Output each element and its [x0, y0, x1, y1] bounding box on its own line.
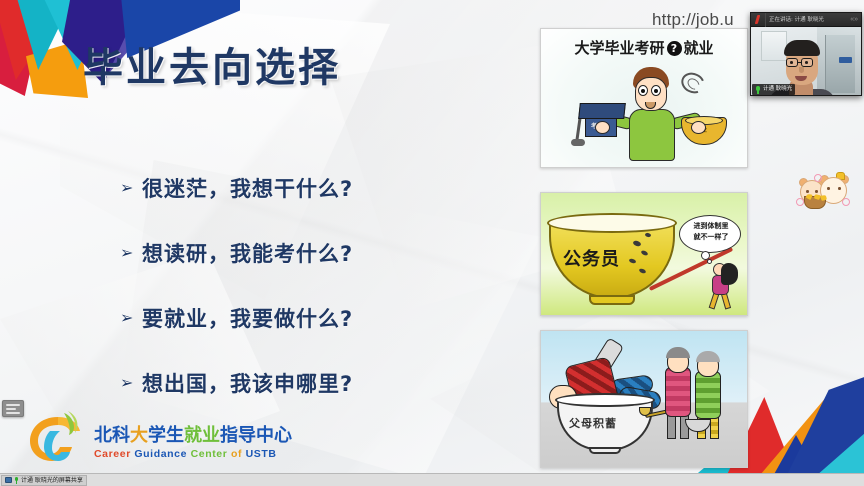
bowl-rim: [547, 213, 677, 233]
video-background-panel: [761, 31, 787, 61]
question-mark-icon: ?: [667, 41, 682, 56]
character-hair: [721, 263, 738, 285]
character-pupil: [654, 89, 658, 93]
webcam-video-feed[interactable]: 计通 耿晓光: [751, 27, 861, 96]
person-eye: [805, 61, 808, 64]
footer-logo: 北科大学生就业指导中心 Career Guidance Center of US…: [24, 407, 292, 465]
illustration-canvas: 父母积蓄: [541, 331, 747, 467]
parent-leg: [710, 417, 719, 439]
bullet-text: 很迷茫，我想干什么?: [142, 173, 353, 203]
heading-part-left: 大学毕业: [574, 39, 634, 57]
bowl-label: 父母积蓄: [569, 415, 617, 431]
bubble-line-1: 进到体制里: [694, 222, 729, 230]
bowl-foot: [589, 295, 635, 305]
bullet-text: 想读研，我能考什么?: [142, 238, 353, 268]
illustration-civil-servant-bowl: 公务员 进到体制里就不一样了: [540, 192, 748, 316]
illustration-parents-savings: 父母积蓄: [540, 330, 748, 468]
heading-part-mid: 考研: [634, 39, 664, 57]
video-background-sign: [839, 57, 852, 63]
sticker-eye: [806, 190, 809, 193]
video-window-controls[interactable]: «»: [850, 15, 859, 24]
toolbar-line: [6, 408, 16, 410]
bowl-rim: [555, 393, 655, 407]
bullet-arrow-icon: ➢: [120, 245, 142, 261]
taskbar: 计通 耿晓光的屏幕共享: [0, 473, 864, 486]
bubble-line-2: 就不一样了: [694, 233, 729, 241]
bullet-item: ➢ 要就业，我要做什么?: [120, 285, 520, 350]
cartoon-animal-sticker: [798, 168, 852, 212]
bullet-list: ➢ 很迷茫，我想干什么? ➢ 想读研，我能考什么? ➢ 要就业，我要做什么? ➢…: [120, 155, 520, 415]
microphone-icon: [14, 477, 19, 484]
logo-en-part: Career: [94, 448, 134, 460]
bullet-arrow-icon: ➢: [120, 375, 142, 391]
logo-cn-part: 学生: [148, 425, 184, 446]
logo-en-part: USTB: [246, 448, 277, 460]
character-pupil: [641, 89, 645, 93]
graduation-cap-icon: [578, 103, 626, 119]
logo-chinese: 北科大学生就业指导中心: [94, 421, 292, 447]
video-participant-window[interactable]: 正在讲话: 计通 耿晓光 «» 计通 耿晓光: [750, 12, 862, 96]
bullet-item: ➢ 想出国，我该申哪里?: [120, 350, 520, 415]
bullet-text: 要就业，我要做什么?: [142, 303, 353, 333]
toolbar-line: [6, 412, 20, 414]
slide-title: 毕业去向选择: [83, 35, 341, 93]
illustration-kaoyan-vs-jiuye: 大学毕业考研?就业 考研 就业: [540, 28, 748, 168]
sticker-eye: [815, 190, 818, 193]
speaking-status-label: 正在讲话: 计通 耿晓光: [765, 13, 847, 27]
presentation-slide: 毕业去向选择 ➢ 很迷茫，我想干什么? ➢ 想读研，我能考什么? ➢ 要就业，我…: [0, 0, 864, 473]
bullet-arrow-icon: ➢: [120, 180, 142, 196]
person-hair: [784, 40, 820, 56]
logo-text: 北科大学生就业指导中心 Career Guidance Center of US…: [94, 421, 292, 465]
logo-cn-part: 大: [130, 425, 148, 446]
parent-body: [665, 367, 691, 417]
logo-cn-part: 指导中心: [220, 425, 292, 446]
url-label: http://job.u: [652, 10, 734, 30]
toolbar-line: [6, 404, 20, 406]
bowl-foot: [589, 447, 621, 454]
speech-bubble-tail: [707, 259, 712, 264]
heading-part-right: 就业: [684, 39, 714, 57]
logo-svg: [24, 407, 92, 465]
sticker-eye: [827, 187, 830, 190]
bullet-item: ➢ 想读研，我能考什么?: [120, 220, 520, 285]
video-window-titlebar[interactable]: 正在讲话: 计通 耿晓光 «»: [751, 13, 861, 27]
bullet-arrow-icon: ➢: [120, 310, 142, 326]
person-nose: [799, 67, 804, 73]
bullet-text: 想出国，我该申哪里?: [142, 368, 353, 398]
logo-en-part: Guidance: [134, 448, 190, 460]
logo-cn-part: 北科: [94, 425, 130, 446]
monitor-icon: [5, 477, 12, 483]
cap-tassel: [571, 139, 585, 146]
logo-english: Career Guidance Center of USTB: [94, 448, 292, 460]
participant-name-label: 计通 耿晓光: [763, 84, 792, 95]
app-logo-icon: [753, 15, 762, 24]
parent-body: [695, 371, 721, 419]
illustration-canvas: 公务员 进到体制里就不一样了: [541, 193, 747, 315]
sticker-flower: [796, 198, 804, 206]
chevron-collapse-icon[interactable]: «»: [850, 15, 858, 24]
floating-toolbar-button[interactable]: [2, 400, 24, 417]
taskbar-item-screen-share[interactable]: 计通 耿晓光的屏幕共享: [1, 475, 87, 486]
bullet-item: ➢ 很迷茫，我想干什么?: [120, 155, 520, 220]
character-hand: [691, 121, 706, 134]
character-body: [629, 109, 675, 161]
participant-name-badge: 计通 耿晓光: [752, 84, 795, 95]
sticker-flower: [842, 198, 850, 206]
illustration-canvas: 大学毕业考研?就业 考研 就业: [541, 29, 747, 167]
logo-cn-part: 就业: [184, 425, 220, 446]
taskbar-item-label: 计通 耿晓光的屏幕共享: [21, 475, 83, 486]
logo-en-part: Center: [191, 448, 231, 460]
person-eye: [790, 61, 793, 64]
screen-share-view: 毕业去向选择 ➢ 很迷茫，我想干什么? ➢ 想读研，我能考什么? ➢ 要就业，我…: [0, 0, 864, 486]
parent-leg: [667, 415, 676, 439]
eyeglasses-bridge: [798, 62, 802, 63]
logo-mark-icon: [24, 407, 92, 465]
character-hand: [595, 121, 610, 134]
sticker-flower: [814, 174, 822, 182]
video-background-door: [825, 35, 855, 93]
illustration-heading: 大学毕业考研?就业: [541, 37, 747, 58]
logo-en-part: of: [231, 448, 246, 460]
sticker-eye: [838, 187, 841, 190]
speech-bubble-text: 进到体制里就不一样了: [683, 221, 739, 243]
bowl-label: 公务员: [563, 245, 620, 271]
microphone-icon: [755, 86, 761, 94]
